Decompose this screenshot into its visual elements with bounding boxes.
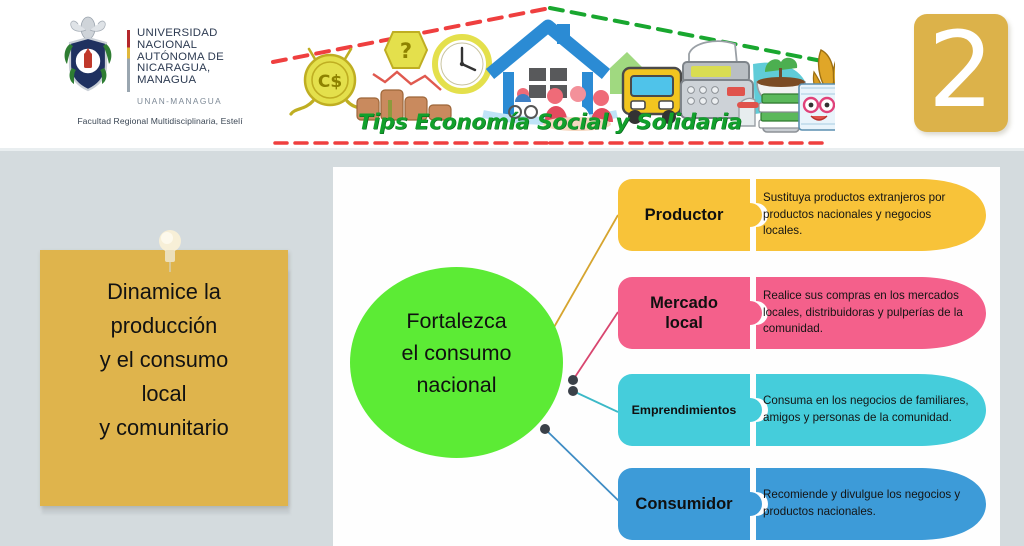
row-label: Productor: [618, 179, 750, 251]
row-description: Consuma en los negocios de familiares, a…: [763, 374, 973, 446]
banner-title: Tips Economía Social y Solidaria: [265, 110, 835, 135]
unan-coat-of-arms-icon: [60, 16, 116, 96]
row-label: Mercado local: [618, 277, 750, 349]
logo-divider-rule: [127, 30, 130, 92]
svg-text:C$: C$: [318, 72, 342, 92]
clock-icon: [435, 37, 489, 91]
row-description: Sustituya productos extranjeros por prod…: [763, 179, 973, 251]
header-divider: [0, 148, 1024, 151]
diagram-row-emprendimientos[interactable]: Emprendimientos Consuma en los negocios …: [618, 374, 988, 446]
banner-illustration: C$ ?: [265, 2, 835, 148]
row-label: Consumidor: [618, 468, 750, 540]
diagram-row-mercado-local[interactable]: Mercado local Realice sus compras en los…: [618, 277, 988, 349]
diagram-row-productor[interactable]: Productor Sustituya productos extranjero…: [618, 179, 988, 251]
slide-number-text: 2: [914, 14, 1008, 126]
university-logo-block: UNIVERSIDAD NACIONAL AUTÓNOMA DE NICARAG…: [55, 12, 255, 137]
infographic-slide: UNIVERSIDAD NACIONAL AUTÓNOMA DE NICARAG…: [0, 0, 1024, 546]
sticky-note-text: Dinamice la producción y el consumo loca…: [50, 275, 278, 445]
row-description: Realice sus compras en los mercados loca…: [763, 277, 973, 349]
svg-text:?: ?: [400, 39, 412, 63]
slide-header: UNIVERSIDAD NACIONAL AUTÓNOMA DE NICARAG…: [0, 0, 1024, 148]
house-icon: [490, 24, 606, 120]
pushpin-icon: [157, 228, 183, 272]
university-name: UNIVERSIDAD NACIONAL AUTÓNOMA DE NICARAG…: [137, 28, 257, 87]
diagram-row-consumidor[interactable]: Consumidor Recomiende y divulgue los neg…: [618, 468, 988, 540]
slide-number-badge: 2: [914, 14, 1008, 132]
row-label: Emprendimientos: [618, 374, 750, 446]
faculty-name: Facultad Regional Multidisciplinaria, Es…: [60, 116, 260, 126]
center-node-label: Fortalezca el consumo nacional: [350, 305, 563, 401]
row-description: Recomiende y divulgue los negocios y pro…: [763, 468, 973, 540]
university-acronym: UNAN-MANAGUA: [137, 96, 222, 106]
